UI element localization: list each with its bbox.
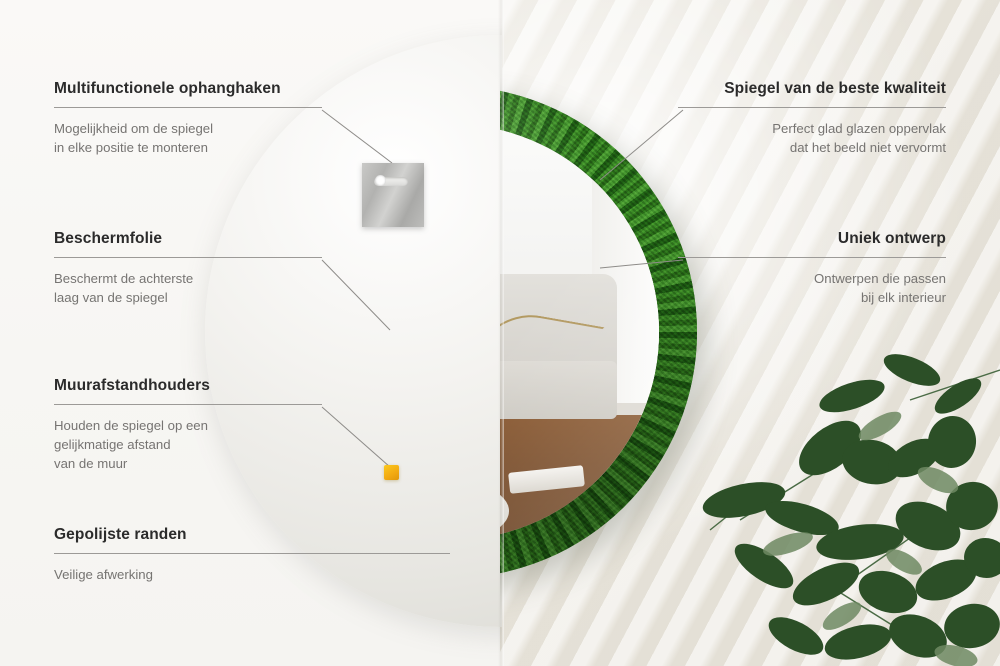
round-mirror (500, 86, 697, 578)
callout-hooks-body-line1: Mogelijkheid om de spiegel (54, 121, 213, 136)
callout-spacers-body-line1: Houden de spiegel op een (54, 418, 208, 433)
infographic-canvas: Multifunctionele ophanghaken Mogelijkhei… (0, 0, 1000, 666)
callout-edges-rule (54, 553, 450, 554)
callout-foil-body-line2: laag van de spiegel (54, 290, 168, 305)
callout-spacers: Muurafstandhouders Houden de spiegel op … (54, 377, 322, 473)
callout-glass-rule (678, 107, 946, 108)
callout-foil-title: Beschermfolie (54, 230, 322, 248)
mirror-glass (500, 124, 659, 540)
callout-spacers-rule (54, 404, 322, 405)
callout-hooks-body: Mogelijkheid om de spiegel in elke posit… (54, 119, 322, 157)
callout-edges-title: Gepolijste randen (54, 526, 450, 544)
callout-foil-rule (54, 257, 322, 258)
callout-glass-body-line1: Perfect glad glazen oppervlak (772, 121, 946, 136)
callout-hooks: Multifunctionele ophanghaken Mogelijkhei… (54, 80, 322, 157)
callout-foil: Beschermfolie Beschermt de achterste laa… (54, 230, 322, 307)
panel-seam (498, 0, 504, 666)
callout-design-body-line1: Ontwerpen die passen (814, 271, 946, 286)
callout-glass: Spiegel van de beste kwaliteit Perfect g… (678, 80, 946, 157)
callout-foil-body-line1: Beschermt de achterste (54, 271, 193, 286)
bracket-keyhole (375, 175, 386, 186)
callout-design-body: Ontwerpen die passen bij elk interieur (678, 269, 946, 307)
callout-spacers-title: Muurafstandhouders (54, 377, 322, 395)
callout-design-body-line2: bij elk interieur (861, 290, 946, 305)
callout-hooks-body-line2: in elke positie te monteren (54, 140, 208, 155)
callout-edges-body: Veilige afwerking (54, 565, 450, 584)
hanging-bracket-plate (362, 163, 424, 227)
callout-design-title: Uniek ontwerp (678, 230, 946, 248)
callout-design: Uniek ontwerp Ontwerpen die passen bij e… (678, 230, 946, 307)
eucalyptus-foliage (700, 330, 1000, 666)
callout-edges: Gepolijste randen Veilige afwerking (54, 526, 450, 584)
callout-spacers-body-line3: van de muur (54, 456, 127, 471)
callout-spacers-body: Houden de spiegel op een gelijkmatige af… (54, 416, 322, 473)
callout-hooks-title: Multifunctionele ophanghaken (54, 80, 322, 98)
callout-design-rule (678, 257, 946, 258)
callout-glass-body: Perfect glad glazen oppervlak dat het be… (678, 119, 946, 157)
callout-glass-body-line2: dat het beeld niet vervormt (790, 140, 946, 155)
callout-hooks-rule (54, 107, 322, 108)
callout-spacers-body-line2: gelijkmatige afstand (54, 437, 171, 452)
callout-edges-body-line1: Veilige afwerking (54, 567, 153, 582)
callout-foil-body: Beschermt de achterste laag van de spieg… (54, 269, 322, 307)
wall-spacer-marker (384, 465, 399, 480)
callout-glass-title: Spiegel van de beste kwaliteit (678, 80, 946, 98)
